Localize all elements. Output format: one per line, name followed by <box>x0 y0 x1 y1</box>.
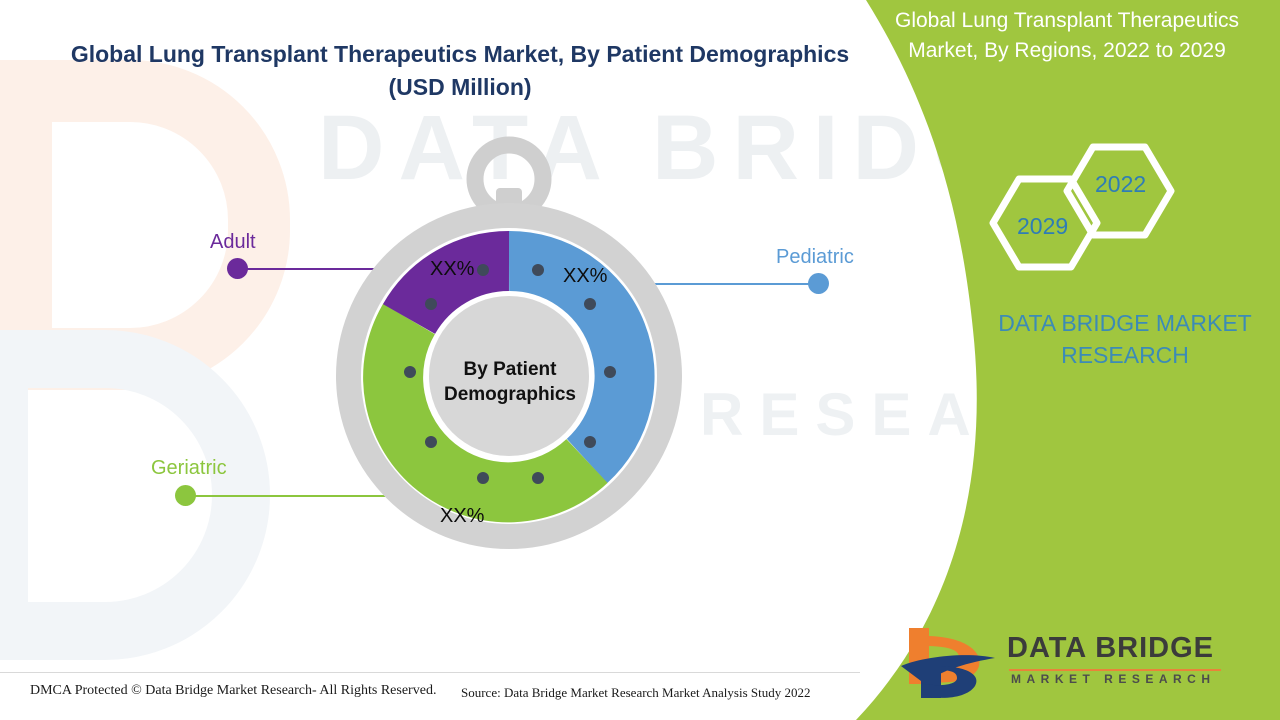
footer-divider <box>0 672 860 673</box>
hexagon-2022-label: 2022 <box>1095 171 1146 198</box>
logo-divider <box>1009 669 1221 671</box>
brand-caption-line-1: DATA BRIDGE MARKET <box>975 308 1275 340</box>
hexagon-2029-label: 2029 <box>1017 213 1068 240</box>
donut-center-line-2: Demographics <box>419 383 601 408</box>
value-label-pediatric: XX% <box>563 265 607 288</box>
infographic-canvas: DATA BRIDGE RESEARCH Global Lung Transpl… <box>0 0 1280 720</box>
regions-panel-title-line-1: Global Lung Transplant Therapeutics <box>862 6 1272 36</box>
value-label-adult: XX% <box>430 258 474 281</box>
brand-caption-line-2: RESEARCH <box>975 340 1275 372</box>
donut-chart <box>318 130 704 546</box>
watermark-brand-b-icon <box>0 60 290 390</box>
value-label-geriatric: XX% <box>440 505 484 528</box>
legend-label-geriatric[interactable]: Geriatric <box>151 457 227 480</box>
legend-dot-pediatric[interactable] <box>808 273 829 294</box>
regions-panel-title: Global Lung Transplant Therapeutics Mark… <box>862 6 1272 66</box>
logo-subtitle: MARKET RESEARCH <box>1011 672 1216 686</box>
footer-source: Source: Data Bridge Market Research Mark… <box>461 685 810 701</box>
page-title: Global Lung Transplant Therapeutics Mark… <box>60 38 860 105</box>
data-bridge-mark-icon <box>895 622 1005 704</box>
footer-copyright: DMCA Protected © Data Bridge Market Rese… <box>30 683 436 699</box>
donut-center-label: By Patient Demographics <box>419 358 601 407</box>
regions-panel-title-line-2: Market, By Regions, 2022 to 2029 <box>862 36 1272 66</box>
legend-dot-geriatric[interactable] <box>175 485 196 506</box>
year-hexagons: 2022 2029 <box>985 135 1195 285</box>
brand-caption: DATA BRIDGE MARKET RESEARCH <box>975 308 1275 371</box>
legend-dot-adult[interactable] <box>227 258 248 279</box>
data-bridge-logo: DATA BRIDGE MARKET RESEARCH <box>895 622 1255 704</box>
legend-label-pediatric[interactable]: Pediatric <box>776 246 854 269</box>
logo-name: DATA BRIDGE <box>1007 632 1214 665</box>
page-title-line-2: (USD Million) <box>60 71 860 104</box>
page-title-line-1: Global Lung Transplant Therapeutics Mark… <box>60 38 860 71</box>
legend-label-adult[interactable]: Adult <box>210 231 256 254</box>
year-hexagons-shape <box>985 135 1195 285</box>
donut-chart-graphic <box>318 130 704 546</box>
donut-center-line-1: By Patient <box>419 358 601 383</box>
